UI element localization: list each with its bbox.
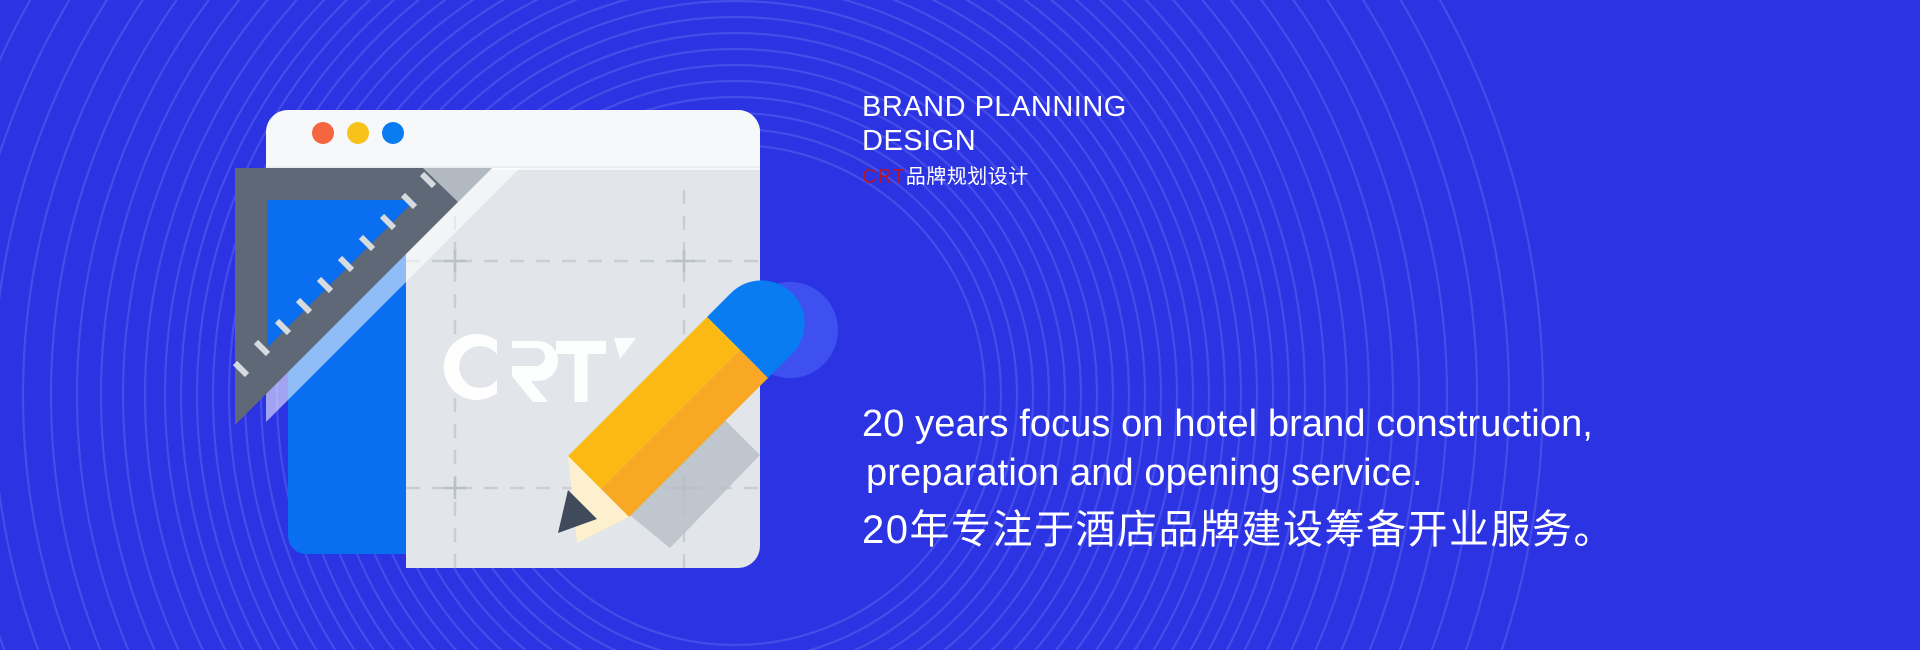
crt-brand-mark: CRT (862, 166, 906, 188)
brand-design-illustration (0, 0, 860, 650)
banner-text-column: BRAND PLANNING DESIGN CRT品牌规划设计 20 years… (862, 0, 1882, 650)
window-title-bar (266, 110, 760, 170)
headline-english: 20 years focus on hotel brand constructi… (862, 400, 1842, 498)
brand-banner: BRAND PLANNING DESIGN CRT品牌规划设计 20 years… (0, 0, 1920, 650)
maximize-dot (382, 122, 404, 144)
headline-chinese: 20年专注于酒店品牌建设筹备开业服务。 (862, 504, 1842, 556)
minimize-dot (347, 122, 369, 144)
headline-en-line-1: 20 years focus on hotel brand constructi… (862, 403, 1593, 445)
kicker-chinese-text: 品牌规划设计 (906, 166, 1029, 188)
kicker-chinese-line: CRT品牌规划设计 (862, 165, 1502, 189)
headline-block: 20 years focus on hotel brand constructi… (862, 400, 1842, 556)
close-dot (312, 122, 334, 144)
kicker-line-2: DESIGN (862, 124, 1502, 158)
kicker-line-1: BRAND PLANNING (862, 90, 1502, 124)
kicker-block: BRAND PLANNING DESIGN CRT品牌规划设计 (862, 90, 1502, 189)
headline-en-line-2: preparation and opening service. (862, 449, 1842, 498)
